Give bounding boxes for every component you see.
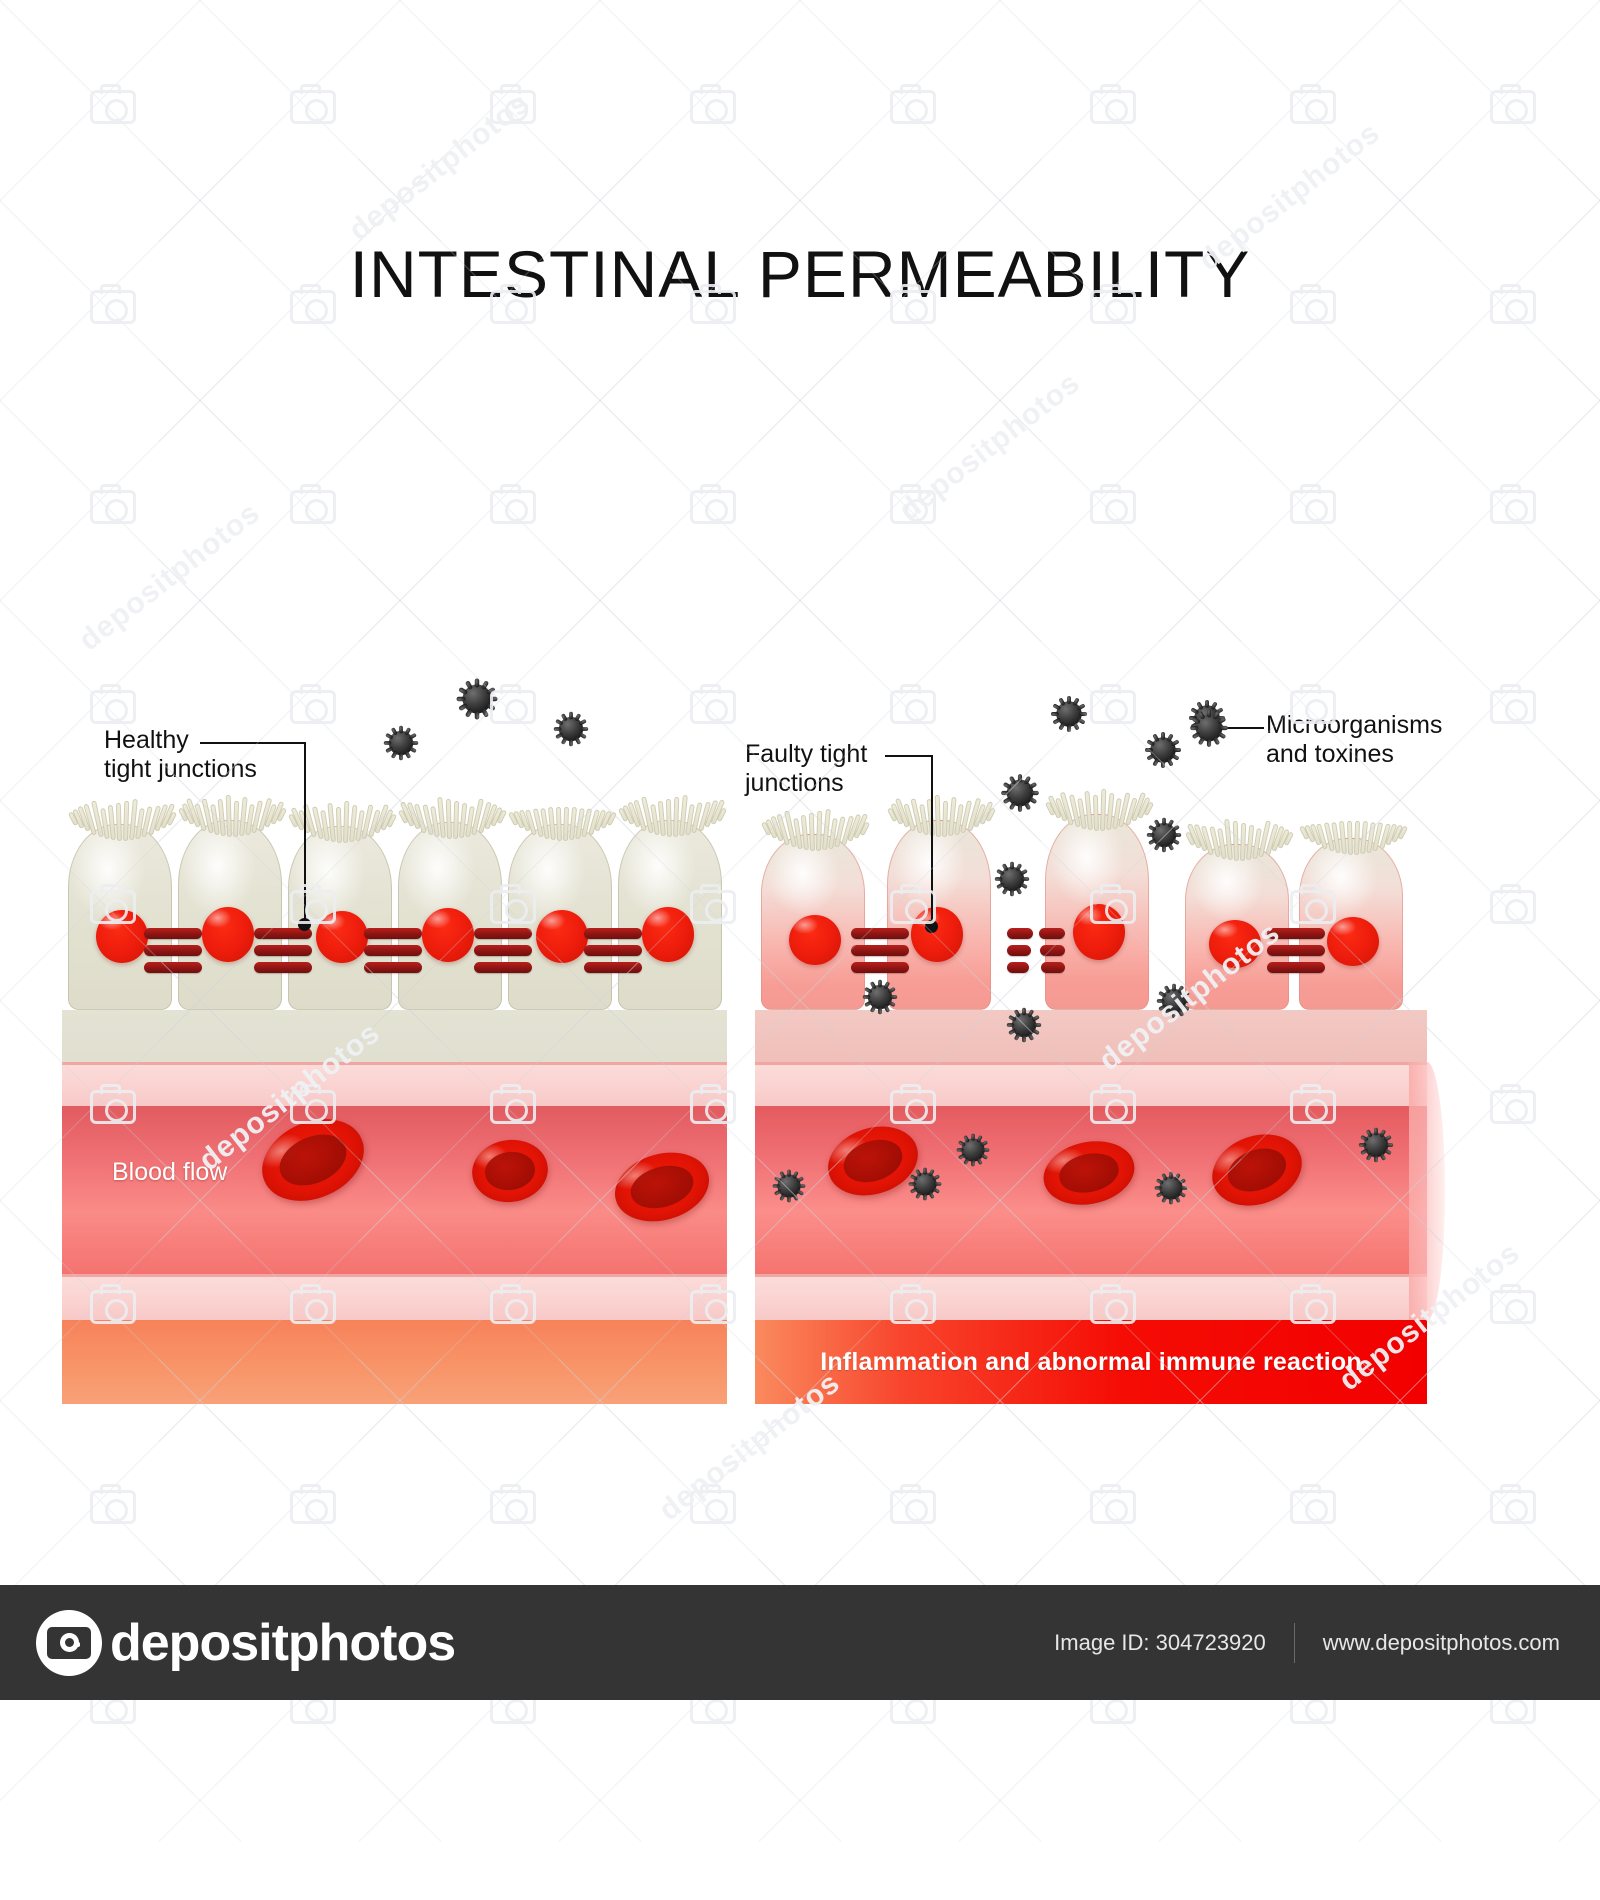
tight-junction-bar (851, 962, 909, 973)
watermark-camera-icon (890, 90, 936, 124)
tight-junction-healthy (144, 928, 202, 992)
page-title: INTESTINAL PERMEABILITY (0, 236, 1600, 312)
tight-junction-bar (584, 962, 642, 973)
watermark-camera-icon (290, 1490, 336, 1524)
villus (666, 799, 672, 837)
tight-junction-bar (1007, 945, 1031, 956)
microbe-icon (859, 976, 901, 1018)
villus (556, 807, 562, 841)
cell-nucleus (422, 908, 474, 962)
tight-junction-bar (254, 945, 312, 956)
watermark-cross (300, 300, 700, 700)
watermark-cross (100, 1500, 500, 1900)
watermark-cross (500, 1500, 900, 1900)
tight-junction-bar (1041, 962, 1065, 973)
watermark-camera-icon (690, 90, 736, 124)
vessel-wall-top (62, 1062, 727, 1106)
lamina-propria (62, 1010, 727, 1062)
camera-icon (36, 1610, 102, 1676)
tight-junction-bar (144, 962, 202, 973)
microbe-icon (769, 1166, 809, 1206)
villus (1233, 821, 1239, 861)
watermark-camera-icon (890, 690, 936, 724)
watermark-camera-icon (1490, 490, 1536, 524)
watermark-camera-icon (1090, 690, 1136, 724)
tight-junction-faulty (1007, 928, 1065, 992)
watermark-camera-icon (1490, 1490, 1536, 1524)
cell-nucleus (536, 910, 588, 963)
watermark-cross (1300, 300, 1600, 700)
watermark-camera-icon (890, 1490, 936, 1524)
callout-microorganisms-and-toxines: Microorganisms and toxines (1186, 700, 1486, 790)
microbe-icon (1153, 980, 1195, 1022)
microvilli (1045, 814, 1149, 815)
vessel-wall-line (755, 1274, 1427, 1277)
callout-healthy-tight-junctions: Healthy tight junctions (104, 726, 314, 936)
watermark-camera-icon (490, 1490, 536, 1524)
watermark-cross (300, 1500, 700, 1900)
microbe-icon (991, 858, 1033, 900)
watermark-cross (700, 300, 1100, 700)
cell-nucleus (1073, 904, 1125, 960)
watermark-camera-icon (1490, 690, 1536, 724)
vessel-wall-line (755, 1062, 1427, 1065)
villus (1347, 821, 1353, 855)
watermark-cross (1500, 1500, 1600, 1900)
microbe-icon (550, 708, 592, 750)
watermark-camera-icon (1490, 1290, 1536, 1324)
lamina-propria-inflamed (755, 1010, 1427, 1062)
callout-label: Microorganisms and toxines (1266, 711, 1442, 769)
watermark-camera-icon (1490, 90, 1536, 124)
microbe-icon (1355, 1124, 1397, 1166)
watermark-camera-icon (490, 90, 536, 124)
tight-junction-bar (1007, 928, 1033, 939)
watermark-camera-icon (1290, 1490, 1336, 1524)
leader-line-vertical (931, 755, 933, 927)
tight-junction-healthy (1267, 928, 1325, 992)
watermark-camera-icon (290, 690, 336, 724)
tight-junction-bar (1267, 945, 1325, 956)
watermark-cross (900, 1500, 1300, 1900)
watermark-camera-icon (1090, 1490, 1136, 1524)
microbe-icon (1047, 692, 1091, 736)
watermark-text: depositphotos (343, 86, 537, 248)
villus (336, 807, 342, 843)
vessel-wall-bottom (755, 1276, 1427, 1320)
microbe-icon (1143, 814, 1185, 856)
cell-nucleus (642, 907, 694, 961)
tight-junction-bar (364, 962, 422, 973)
watermark-camera-icon (1490, 1090, 1536, 1124)
tight-junction-bar (364, 928, 422, 939)
microbe-icon (1003, 1004, 1045, 1046)
watermark-camera-icon (90, 690, 136, 724)
watermark-camera-icon (490, 490, 536, 524)
tight-junction-bar (1039, 928, 1065, 939)
red-blood-cell (1038, 1133, 1141, 1213)
tight-junction-healthy (584, 928, 642, 992)
leader-line-vertical (304, 742, 306, 926)
tight-junction-bar (1267, 928, 1325, 939)
microbe-icon (905, 1164, 945, 1204)
leader-line-horizontal (885, 755, 933, 757)
watermark-camera-icon (690, 1490, 736, 1524)
tight-junction-healthy (364, 928, 422, 992)
inflammation-banner: Inflammation and abnormal immune reactio… (755, 1320, 1427, 1404)
watermark-camera-icon (690, 690, 736, 724)
microbe-icon (380, 722, 422, 764)
watermark-camera-icon (1490, 890, 1536, 924)
microvilli (618, 820, 722, 821)
watermark-camera-icon (1290, 490, 1336, 524)
watermark-cross (1500, 300, 1600, 700)
callout-faulty-tight-junctions: Faulty tight junctions (745, 740, 940, 940)
red-blood-cell (607, 1142, 717, 1232)
logo-wordmark: depositphotos (110, 1613, 455, 1673)
image-id-label: Image ID: 304723920 (1054, 1630, 1294, 1656)
watermark-cross (1300, 1500, 1600, 1900)
watermark-camera-icon (690, 490, 736, 524)
watermark-camera-icon (890, 490, 936, 524)
tight-junction-bar (364, 945, 422, 956)
microbe-icon (1186, 705, 1232, 751)
microvilli (398, 822, 502, 823)
tight-junction-bar (144, 945, 202, 956)
depositphotos-logo: depositphotos (36, 1610, 455, 1676)
microvilli (1185, 844, 1289, 845)
watermark-camera-icon (90, 1490, 136, 1524)
watermark-cross (500, 300, 900, 700)
tight-junction-healthy (254, 928, 312, 992)
watermark-text: depositphotos (73, 496, 267, 658)
illustration-canvas: depositphotosdepositphotosdepositphotosd… (0, 0, 1600, 1700)
vessel-end-cap (1409, 1062, 1445, 1320)
tight-junction-bar (1267, 962, 1325, 973)
watermark-cross (1500, 700, 1600, 1100)
watermark-camera-icon (290, 490, 336, 524)
microvilli (1299, 838, 1403, 839)
watermark-cross (1100, 1500, 1500, 1900)
vessel-wall-line (62, 1062, 727, 1065)
microvilli (508, 824, 612, 825)
leader-endpoint-dot (298, 918, 311, 931)
vessel-wall-line (62, 1274, 727, 1277)
watermark-camera-icon (90, 90, 136, 124)
watermark-camera-icon (90, 490, 136, 524)
cell-nucleus (1327, 917, 1379, 966)
red-blood-cell (1202, 1122, 1312, 1217)
site-url-label[interactable]: www.depositphotos.com (1295, 1630, 1600, 1656)
vessel-wall-bottom (62, 1276, 727, 1320)
vessel-wall-top (755, 1062, 1427, 1106)
inflammation-banner-label: Inflammation and abnormal immune reactio… (755, 1320, 1427, 1404)
microbe-icon (997, 770, 1043, 816)
microbe-icon (1151, 1168, 1191, 1208)
watermark-cross (1500, 900, 1600, 1300)
watermark-cross (0, 300, 300, 700)
tight-junction-bar (474, 928, 532, 939)
red-blood-cell (468, 1135, 552, 1207)
watermark-camera-icon (1090, 90, 1136, 124)
leader-endpoint-dot (925, 920, 938, 933)
tight-junction-bar (474, 962, 532, 973)
watermark-cross (1500, 1100, 1600, 1500)
tight-junction-bar (851, 945, 909, 956)
watermark-cross (100, 300, 500, 700)
footer-bar: depositphotos Image ID: 304723920 www.de… (0, 1585, 1600, 1700)
microbe-icon (1141, 728, 1185, 772)
watermark-cross (1500, 500, 1600, 900)
villus (1093, 795, 1099, 831)
footer-meta: Image ID: 304723920 www.depositphotos.co… (1054, 1623, 1600, 1663)
tight-junction-bar (254, 962, 312, 973)
tight-junction-bar (584, 945, 642, 956)
tight-junction-bar (1007, 962, 1029, 973)
callout-label: Faulty tight junctions (745, 740, 867, 798)
blood-vessel-lumen (62, 1106, 727, 1276)
watermark-cross (700, 1500, 1100, 1900)
leader-line-horizontal (200, 742, 306, 744)
tight-junction-healthy (474, 928, 532, 992)
watermark-cross (900, 300, 1300, 700)
tight-junction-bar (474, 945, 532, 956)
watermark-cross (1100, 300, 1500, 700)
tight-junction-bar (1040, 945, 1065, 956)
submucosa-band (62, 1320, 727, 1404)
cell-nucleus (316, 911, 368, 963)
cell-nucleus (1209, 920, 1261, 967)
watermark-cross (0, 1500, 300, 1900)
microbe-icon (953, 1130, 993, 1170)
callout-label: Healthy tight junctions (104, 726, 257, 784)
watermark-text: depositphotos (893, 366, 1087, 528)
watermark-camera-icon (290, 90, 336, 124)
villus (446, 799, 452, 839)
watermark-camera-icon (1290, 90, 1336, 124)
blood-flow-label: Blood flow (112, 1158, 227, 1187)
microbe-icon (452, 674, 502, 724)
watermark-camera-icon (1090, 490, 1136, 524)
tight-junction-bar (584, 928, 642, 939)
red-blood-cell (249, 1106, 377, 1216)
blood-vessel-lumen (755, 1106, 1427, 1276)
